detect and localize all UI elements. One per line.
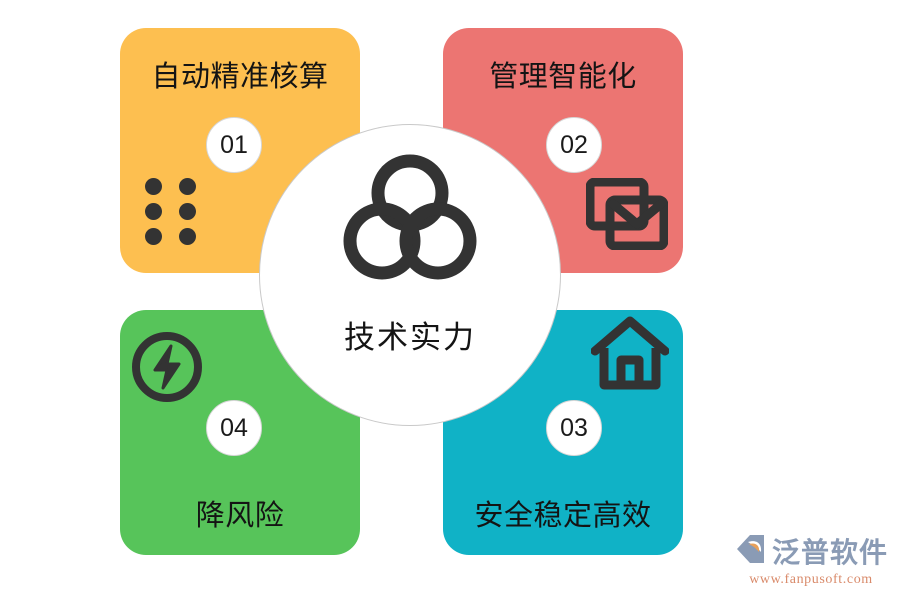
dot-grid-icon [145,178,197,253]
badge-number-01[interactable]: 01 [206,117,262,173]
mail-icon [586,178,668,255]
badge-label: 02 [560,131,588,160]
badge-number-03[interactable]: 03 [546,400,602,456]
fanpu-logo-icon [734,533,768,570]
panel-title: 安全稳定高效 [443,499,683,533]
watermark: 泛普软件 www.fanpusoft.com [734,531,888,588]
watermark-brand: 泛普软件 [772,531,888,571]
badge-number-02[interactable]: 02 [546,117,602,173]
badge-label: 04 [220,414,248,443]
infographic-canvas: 自动精准核算 管理智能化 降风险 安全稳定高效 [0,0,900,600]
panel-title: 自动精准核算 [120,60,360,94]
center-label: 技术实力 [344,312,476,357]
badge-number-04[interactable]: 04 [206,400,262,456]
lightning-bolt-icon [130,330,204,409]
badge-label: 01 [220,131,248,160]
watermark-url: www.fanpusoft.com [749,572,873,588]
home-icon [591,315,669,396]
center-hub[interactable]: 技术实力 [259,124,561,426]
three-circles-icon [337,153,483,288]
panel-title: 管理智能化 [443,60,683,94]
badge-label: 03 [560,414,588,443]
panel-title: 降风险 [120,499,360,533]
